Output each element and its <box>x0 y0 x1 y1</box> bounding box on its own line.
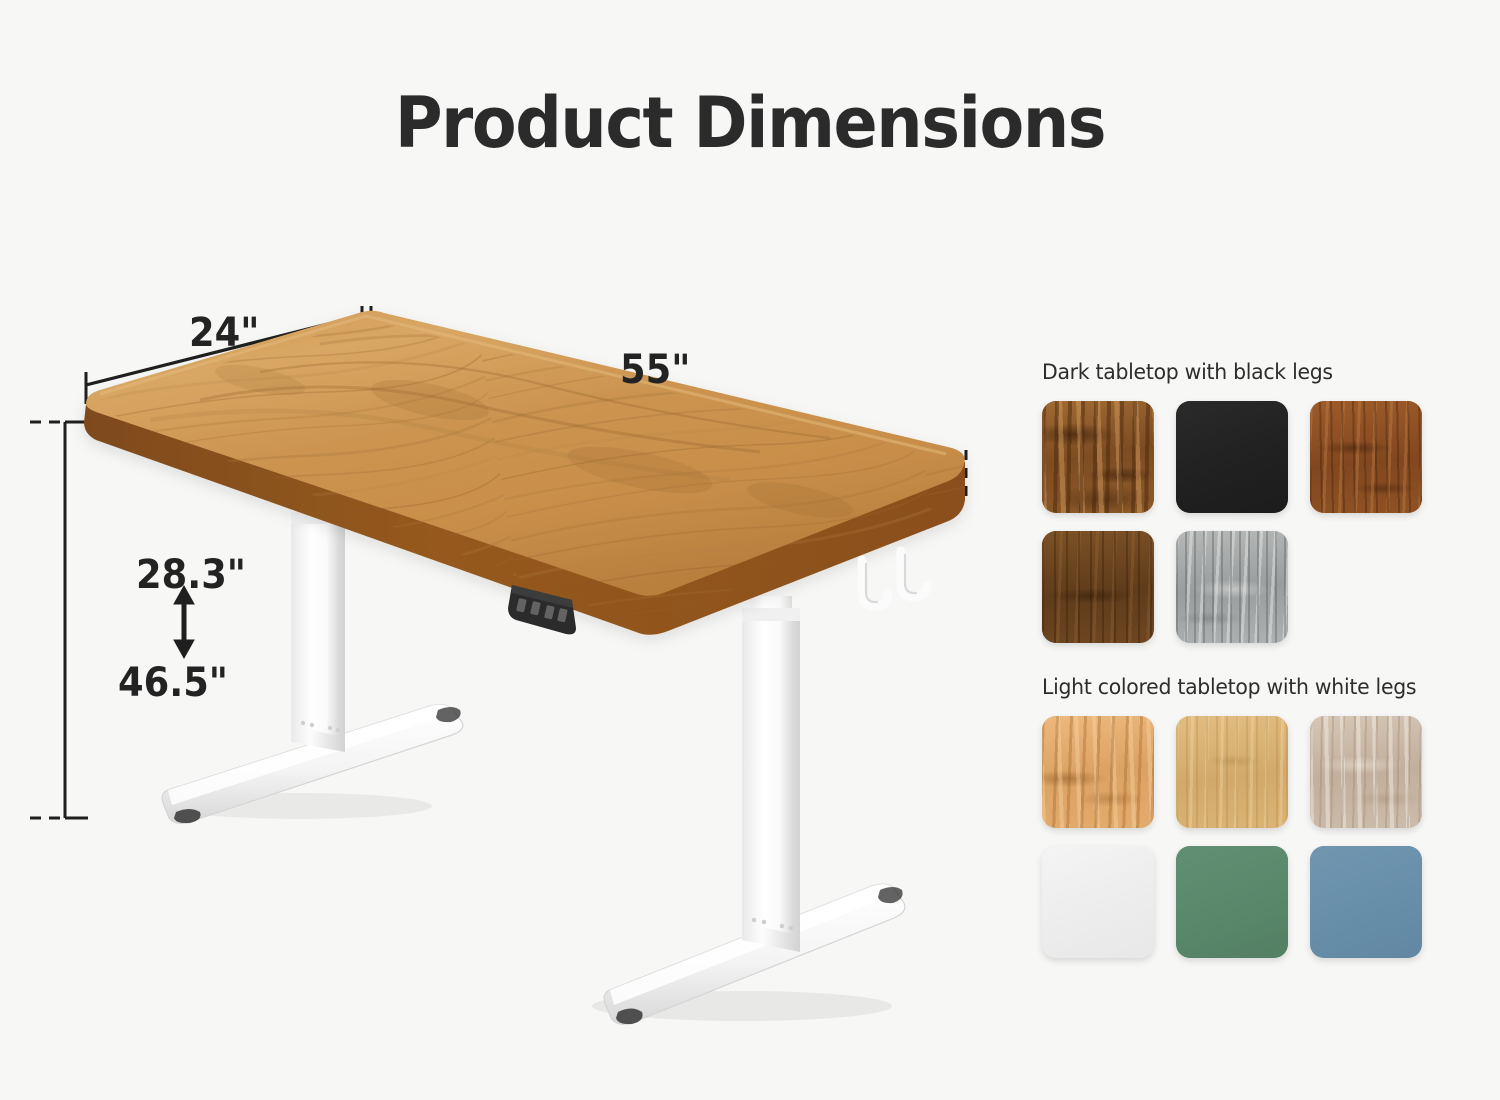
swatch-light-rustic-oak[interactable] <box>1042 716 1154 828</box>
wood-grain-texture <box>1176 716 1288 828</box>
depth-label: 24" <box>189 310 259 356</box>
swatch-sage-green-solid[interactable] <box>1176 846 1288 958</box>
swatch-grid-light <box>1042 716 1482 958</box>
swatch-whitewashed-oak[interactable] <box>1310 716 1422 828</box>
solid-color-fill <box>1176 846 1288 958</box>
wood-grain-texture <box>1310 401 1422 513</box>
headphone-hooks <box>862 551 927 606</box>
swatch-white-solid[interactable] <box>1042 846 1154 958</box>
solid-color-fill <box>1310 846 1422 958</box>
swatch-group-dark-heading: Dark tabletop with black legs <box>1042 360 1460 385</box>
swatch-rustic-brown-wood[interactable] <box>1042 401 1154 513</box>
swatch-gray-wood[interactable] <box>1176 531 1288 643</box>
swatch-group-dark: Dark tabletop with black legs <box>1042 360 1482 643</box>
desk-leg-right <box>604 596 905 1024</box>
swatch-group-light: Light colored tabletop with white legs <box>1042 675 1482 958</box>
swatch-group-light-heading: Light colored tabletop with white legs <box>1042 675 1460 700</box>
desk-illustration: 24" 55" 28.3" 46.5" <box>0 0 1010 1100</box>
wood-grain-texture <box>1310 716 1422 828</box>
finish-options-panel: Dark tabletop with black legs <box>1042 360 1482 990</box>
wood-grain-texture <box>1042 716 1154 828</box>
desk-drawing <box>0 0 1010 1100</box>
swatch-black-solid[interactable] <box>1176 401 1288 513</box>
width-label: 55" <box>620 347 690 393</box>
swatch-grid-dark <box>1042 401 1482 643</box>
wood-grain-texture <box>1176 531 1288 643</box>
solid-color-fill <box>1042 846 1154 958</box>
height-min-label: 28.3" <box>136 552 246 598</box>
wood-grain-texture <box>1042 401 1154 513</box>
height-dimension-line <box>30 422 88 818</box>
wood-grain-texture <box>1042 531 1154 643</box>
swatch-slate-blue-solid[interactable] <box>1310 846 1422 958</box>
swatch-medium-walnut-wood[interactable] <box>1310 401 1422 513</box>
swatch-dark-walnut-wood[interactable] <box>1042 531 1154 643</box>
height-max-label: 46.5" <box>118 660 228 706</box>
infographic-canvas: Product Dimensions <box>0 0 1500 1100</box>
solid-color-fill <box>1176 401 1288 513</box>
swatch-bamboo-maple[interactable] <box>1176 716 1288 828</box>
